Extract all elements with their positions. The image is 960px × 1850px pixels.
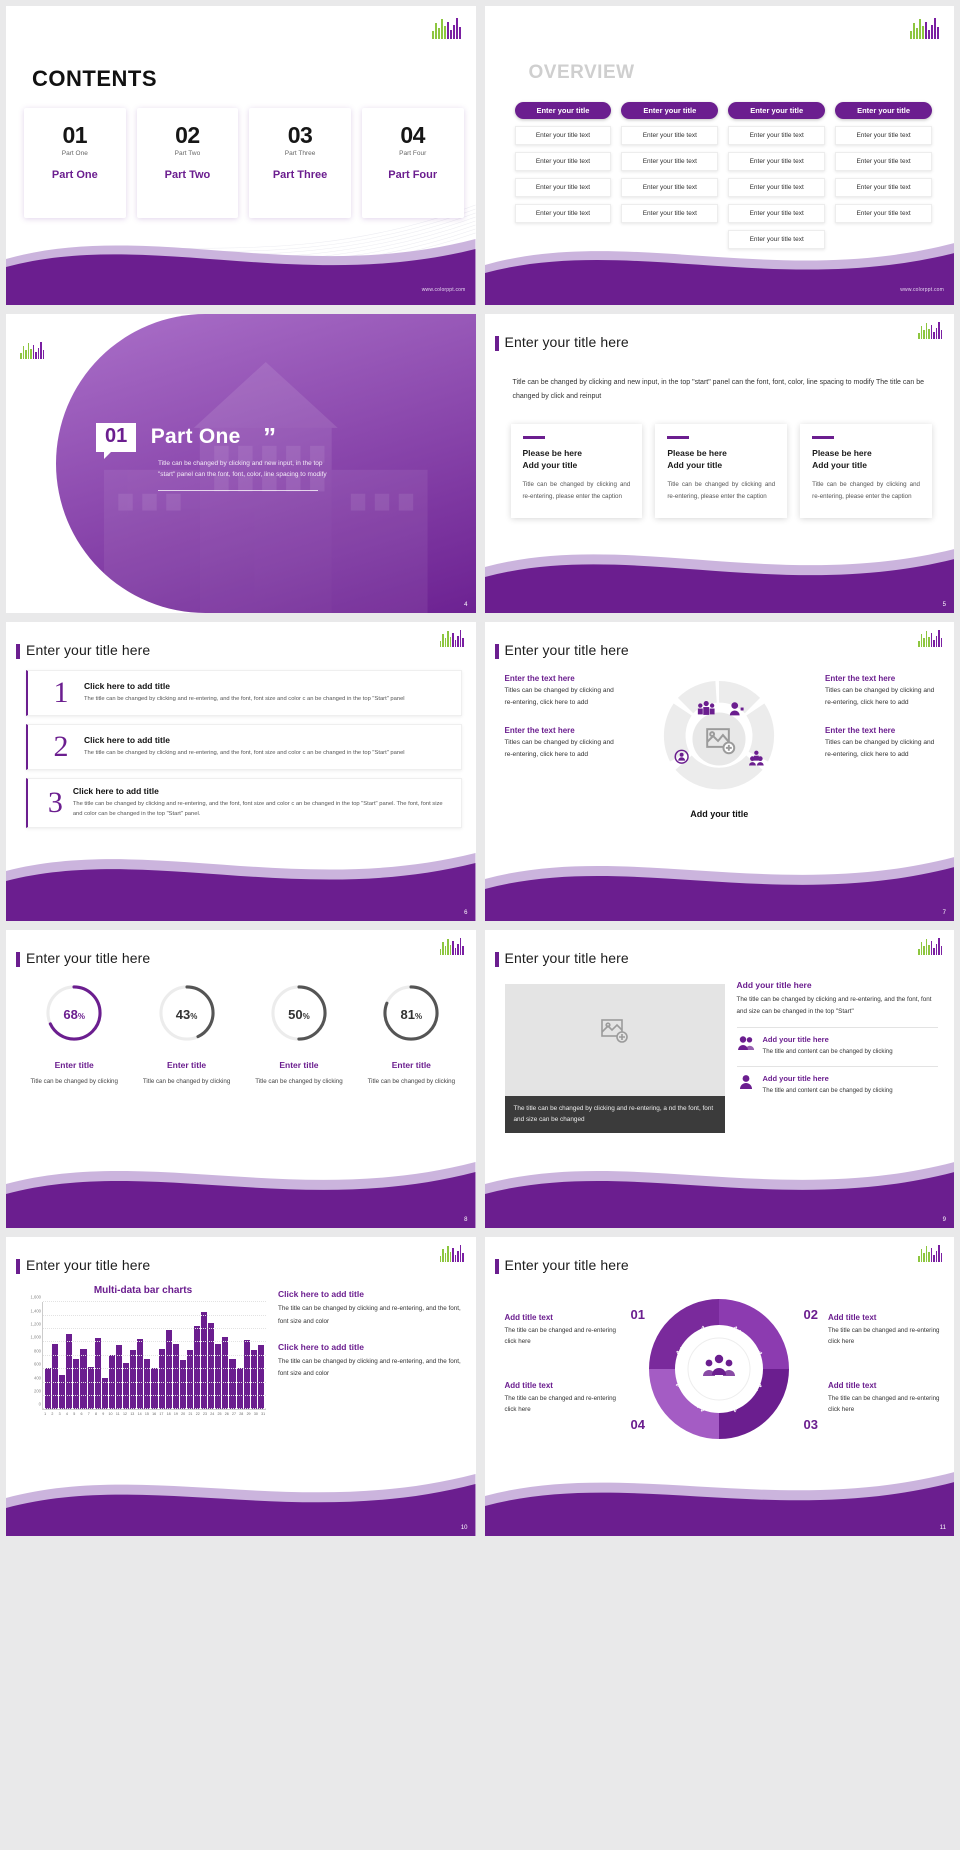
chart-x-tick: 21 bbox=[187, 1412, 193, 1416]
text-block[interactable]: Enter the text here Titles can be change… bbox=[825, 674, 940, 710]
right-text-column: Enter the text here Titles can be change… bbox=[825, 674, 940, 778]
block-heading: Click here to add title bbox=[278, 1289, 464, 1299]
chart-y-tick: 1,200 bbox=[21, 1322, 41, 1327]
slide-percent-donuts[interactable]: Enter your title here 68% Enter title Ti… bbox=[6, 930, 476, 1229]
card-body: Title can be changed by clicking and re-… bbox=[667, 479, 775, 502]
chart-x-tick: 14 bbox=[136, 1412, 142, 1416]
chart-bar bbox=[88, 1367, 94, 1410]
chart-y-tick: 0 bbox=[21, 1402, 41, 1407]
chart-bar bbox=[144, 1359, 150, 1410]
page-number: 6 bbox=[464, 910, 467, 916]
page-title: Enter your title here bbox=[505, 1257, 629, 1273]
chart-bar bbox=[66, 1334, 72, 1409]
chart-gridline bbox=[43, 1408, 266, 1409]
chart-bar bbox=[45, 1368, 51, 1409]
donut-unit: % bbox=[190, 1012, 197, 1021]
chart-x-tick: 15 bbox=[144, 1412, 150, 1416]
item-heading: Add your title here bbox=[763, 1035, 893, 1044]
info-card[interactable]: Please be here Add your title Title can … bbox=[511, 424, 643, 519]
chart-x-tick: 19 bbox=[173, 1412, 179, 1416]
quadrant-number-04: 04 bbox=[631, 1417, 645, 1432]
chart-gridline bbox=[43, 1355, 266, 1356]
info-card[interactable]: Please be here Add your title Title can … bbox=[800, 424, 932, 519]
item-heading: Click here to add title bbox=[84, 735, 405, 745]
page-title: Enter your title here bbox=[505, 950, 629, 966]
accent-bar bbox=[667, 436, 689, 439]
item-body: The title can be changed by clicking and… bbox=[84, 748, 405, 758]
card-subtitle: Part Three bbox=[249, 150, 351, 157]
chart-y-tick: 600 bbox=[21, 1362, 41, 1367]
page-title: Enter your title here bbox=[505, 642, 629, 658]
chart-gridline bbox=[43, 1341, 266, 1342]
chart-x-tick: 10 bbox=[107, 1412, 113, 1416]
overview-column: Enter your title Enter your title text E… bbox=[835, 102, 932, 249]
chart-x-tick: 13 bbox=[129, 1412, 135, 1416]
chart-title: Multi-data bar charts bbox=[20, 1285, 266, 1296]
chart-x-tick: 25 bbox=[216, 1412, 222, 1416]
contents-card-list: 01 Part One Part One 02 Part Two Part Tw… bbox=[24, 108, 464, 218]
numbered-row-list: 1 Click here to add title The title can … bbox=[26, 670, 462, 836]
chart-gridline bbox=[43, 1395, 266, 1396]
item-number: 3 bbox=[38, 788, 73, 818]
chart-x-tick: 20 bbox=[180, 1412, 186, 1416]
donut-value: 81 bbox=[401, 1007, 415, 1022]
text-block[interactable]: Enter the text here Titles can be change… bbox=[505, 726, 620, 762]
page-title: OVERVIEW bbox=[529, 62, 635, 84]
panel-intro: The title can be changed by clicking and… bbox=[737, 994, 939, 1019]
card-label: Part Three bbox=[249, 169, 351, 181]
page-number: 7 bbox=[943, 910, 946, 916]
quadrant-body: The title can be changed and re-entering… bbox=[828, 1325, 940, 1347]
chart-y-tick: 1,600 bbox=[21, 1295, 41, 1300]
chart-x-tick: 3 bbox=[57, 1412, 63, 1416]
block-body: Titles can be changed by clicking and re… bbox=[505, 685, 620, 710]
overview-cell[interactable]: Enter your title text bbox=[835, 204, 932, 223]
chart-plot-area: 02004006008001,0001,2001,4001,600 bbox=[42, 1302, 266, 1410]
page-title: Enter your title here bbox=[26, 950, 150, 966]
footer-wave bbox=[6, 1446, 476, 1536]
slide-overview[interactable]: OVERVIEW Enter your title Enter your tit… bbox=[485, 6, 955, 305]
overview-column: Enter your title Enter your title text E… bbox=[621, 102, 718, 249]
overview-cell[interactable]: Enter your title text bbox=[621, 204, 718, 223]
page-title: Enter your title here bbox=[26, 1257, 150, 1273]
card-subtitle: Part Two bbox=[137, 150, 239, 157]
donut-label: Enter title bbox=[130, 1060, 242, 1070]
quadrant-number-01: 01 bbox=[631, 1307, 645, 1322]
section-number: 01 bbox=[96, 423, 136, 452]
slide-cycle-diagram[interactable]: Enter your title here Add title text The… bbox=[485, 1237, 955, 1536]
chart-x-tick: 24 bbox=[209, 1412, 215, 1416]
item-heading: Click here to add title bbox=[84, 681, 405, 691]
contents-card[interactable]: 04 Part Four Part Four bbox=[362, 108, 464, 218]
chart-gridline bbox=[43, 1315, 266, 1316]
block-body: Titles can be changed by clicking and re… bbox=[825, 685, 940, 710]
chart-bar bbox=[137, 1339, 143, 1409]
overview-cell[interactable]: Enter your title text bbox=[835, 152, 932, 171]
quadrant-text-01[interactable]: Add title text The title can be changed … bbox=[505, 1313, 617, 1347]
card-body: Title can be changed by clicking and re-… bbox=[523, 479, 631, 502]
chart-bar bbox=[244, 1340, 250, 1410]
overview-cell[interactable]: Enter your title text bbox=[728, 230, 825, 249]
center-label: Add your title bbox=[654, 809, 784, 819]
list-item[interactable]: Add your title here The title and conten… bbox=[737, 1027, 939, 1057]
chart-gridline bbox=[43, 1368, 266, 1369]
chart-x-tick: 23 bbox=[202, 1412, 208, 1416]
card-number: 03 bbox=[249, 124, 351, 147]
cover-content: 01 Part One ” Title can be changed by cl… bbox=[96, 422, 338, 491]
chart-bar bbox=[102, 1378, 108, 1409]
equalizer-bars-logo bbox=[918, 322, 942, 339]
info-card[interactable]: Please be here Add your title Title can … bbox=[655, 424, 787, 519]
donut-caption: Title can be changed by clicking bbox=[355, 1076, 467, 1087]
block-heading: Enter the text here bbox=[825, 726, 940, 735]
chart-bar bbox=[173, 1344, 179, 1410]
page-title: Enter your title here bbox=[26, 642, 150, 658]
footer-wave bbox=[485, 1446, 955, 1536]
chart-x-tick: 4 bbox=[64, 1412, 70, 1416]
card-label: Part Two bbox=[137, 169, 239, 181]
chart-bar bbox=[215, 1344, 221, 1410]
chart-y-tick: 400 bbox=[21, 1375, 41, 1380]
donut-label: Enter title bbox=[18, 1060, 130, 1070]
overview-cell[interactable]: Enter your title text bbox=[728, 178, 825, 197]
chart-x-tick: 2 bbox=[49, 1412, 55, 1416]
item-body: The title can be changed by clicking and… bbox=[84, 694, 405, 704]
quadrant-body: The title can be changed and re-entering… bbox=[828, 1393, 940, 1415]
intro-paragraph: Title can be changed by clicking and new… bbox=[513, 376, 925, 404]
chart-x-tick: 11 bbox=[115, 1412, 121, 1416]
cycle-ring: Add title text Add title text Add title … bbox=[649, 1299, 789, 1444]
contents-card[interactable]: 03 Part Three Part Three bbox=[249, 108, 351, 218]
footer-site-url: www.colorppt.com bbox=[422, 287, 466, 293]
segmented-ring-diagram: Add your title bbox=[654, 680, 784, 819]
chart-x-tick: 31 bbox=[260, 1412, 266, 1416]
chart-gridline bbox=[43, 1301, 266, 1302]
chart-bar bbox=[222, 1337, 228, 1409]
quadrant-heading: Add title text bbox=[828, 1313, 940, 1322]
equalizer-bars-logo bbox=[440, 1245, 464, 1262]
item-number: 1 bbox=[38, 678, 84, 708]
section-title: Part One bbox=[151, 425, 241, 449]
chart-bar bbox=[151, 1368, 157, 1409]
footer-wave bbox=[485, 523, 955, 613]
slide-three-cards[interactable]: Enter your title here Title can be chang… bbox=[485, 314, 955, 613]
footer-wave bbox=[6, 1138, 476, 1228]
block-heading: Enter the text here bbox=[825, 674, 940, 683]
donut-caption: Title can be changed by clicking bbox=[130, 1076, 242, 1087]
list-item[interactable]: 2 Click here to add title The title can … bbox=[26, 724, 462, 770]
block-heading: Enter the text here bbox=[505, 726, 620, 735]
overview-cell[interactable]: Enter your title text bbox=[515, 178, 612, 197]
chart-x-tick: 17 bbox=[158, 1412, 164, 1416]
footer-wave bbox=[485, 1138, 955, 1228]
quadrant-number-02: 02 bbox=[804, 1307, 818, 1322]
slide-image-and-list[interactable]: Enter your title here The title can be c… bbox=[485, 930, 955, 1229]
equalizer-bars-logo bbox=[918, 1245, 942, 1262]
item-heading: Click here to add title bbox=[73, 786, 451, 796]
donut-unit: % bbox=[415, 1012, 422, 1021]
card-number: 04 bbox=[362, 124, 464, 147]
ring-segments bbox=[660, 680, 778, 798]
overview-column: Enter your title Enter your title text E… bbox=[728, 102, 825, 249]
left-text-column: Enter the text here Titles can be change… bbox=[505, 674, 620, 778]
contents-card[interactable]: 01 Part One Part One bbox=[24, 108, 126, 218]
list-item[interactable]: 1 Click here to add title The title can … bbox=[26, 670, 462, 716]
overview-cell[interactable]: Enter your title text bbox=[621, 126, 718, 145]
image-placeholder[interactable] bbox=[505, 984, 725, 1096]
slide-circular-diagram[interactable]: Enter your title here Enter the text her… bbox=[485, 622, 955, 921]
donut-label: Enter title bbox=[243, 1060, 355, 1070]
column-pill-button[interactable]: Enter your title bbox=[728, 102, 825, 119]
chart-bar bbox=[159, 1349, 165, 1409]
page-number: 4 bbox=[464, 602, 467, 608]
quadrant-text-04[interactable]: Add title text The title can be changed … bbox=[505, 1381, 617, 1415]
chart-x-tick: 29 bbox=[245, 1412, 251, 1416]
chart-x-tick: 26 bbox=[224, 1412, 230, 1416]
column-pill-button[interactable]: Enter your title bbox=[835, 102, 932, 119]
chart-x-tick: 27 bbox=[231, 1412, 237, 1416]
chart-x-tick: 18 bbox=[166, 1412, 172, 1416]
equalizer-bars-logo bbox=[20, 342, 44, 359]
item-body: The title can be changed by clicking and… bbox=[73, 799, 451, 820]
overview-cell[interactable]: Enter your title text bbox=[728, 152, 825, 171]
block-body: The title can be changed by clicking and… bbox=[278, 1356, 464, 1381]
card-body: Title can be changed by clicking and re-… bbox=[812, 479, 920, 502]
column-pill-button[interactable]: Enter your title bbox=[621, 102, 718, 119]
chart-y-tick: 800 bbox=[21, 1348, 41, 1353]
equalizer-bars-logo bbox=[910, 17, 940, 39]
block-body: Titles can be changed by clicking and re… bbox=[505, 737, 620, 762]
chart-side-text: Click here to add title The title can be… bbox=[278, 1289, 464, 1394]
donut-item[interactable]: 81% Enter title Title can be changed by … bbox=[355, 982, 467, 1087]
donut-value: 50 bbox=[288, 1007, 302, 1022]
item-body: The title and content can be changed by … bbox=[763, 1085, 893, 1096]
divider bbox=[158, 490, 318, 491]
donut-label: Enter title bbox=[355, 1060, 467, 1070]
block-heading: Click here to add title bbox=[278, 1342, 464, 1352]
quadrant-heading: Add title text bbox=[828, 1381, 940, 1390]
chart-bar bbox=[95, 1338, 101, 1409]
overview-cell[interactable]: Enter your title text bbox=[835, 126, 932, 145]
section-body: Title can be changed by clicking and new… bbox=[158, 459, 338, 480]
chart-bar bbox=[73, 1359, 79, 1410]
overview-column: Enter your title Enter your title text E… bbox=[515, 102, 612, 249]
equalizer-bars-logo bbox=[440, 938, 464, 955]
list-item[interactable]: Add your title here The title and conten… bbox=[737, 1066, 939, 1096]
card-heading: Please be here Add your title bbox=[523, 447, 631, 472]
footer-wave bbox=[485, 831, 955, 921]
equalizer-bars-logo bbox=[440, 630, 464, 647]
slide-deck-grid: CONTENTS 01 Part One Part One 02 Part Tw… bbox=[0, 0, 960, 1850]
quadrant-body: The title can be changed and re-entering… bbox=[505, 1325, 617, 1347]
chart-bar bbox=[80, 1349, 86, 1409]
donut-row: 68% Enter title Title can be changed by … bbox=[18, 982, 468, 1087]
quadrant-body: The title can be changed and re-entering… bbox=[505, 1393, 617, 1415]
equalizer-bars-logo bbox=[918, 938, 942, 955]
donut-unit: % bbox=[78, 1012, 85, 1021]
overview-cell[interactable]: Enter your title text bbox=[621, 178, 718, 197]
slide-numbered-list[interactable]: Enter your title here 1 Click here to ad… bbox=[6, 622, 476, 921]
donut-value: 43 bbox=[176, 1007, 190, 1022]
donut-item[interactable]: 43% Enter title Title can be changed by … bbox=[130, 982, 242, 1087]
slide-section-cover[interactable]: 01 Part One ” Title can be changed by cl… bbox=[6, 314, 476, 613]
quadrant-heading: Add title text bbox=[505, 1381, 617, 1390]
quadrant-heading: Add title text bbox=[505, 1313, 617, 1322]
card-heading: Please be here Add your title bbox=[667, 447, 775, 472]
page-number: 8 bbox=[464, 1217, 467, 1223]
chart-y-tick: 1,400 bbox=[21, 1308, 41, 1313]
chart-x-tick: 16 bbox=[151, 1412, 157, 1416]
item-heading: Add your title here bbox=[763, 1074, 893, 1083]
chart-bar bbox=[130, 1350, 136, 1409]
card-label: Part Four bbox=[362, 169, 464, 181]
chart-bars bbox=[45, 1302, 264, 1409]
chart-x-tick: 30 bbox=[253, 1412, 259, 1416]
overview-cell[interactable]: Enter your title text bbox=[515, 152, 612, 171]
overview-cell[interactable]: Enter your title text bbox=[621, 152, 718, 171]
donut-caption: Title can be changed by clicking bbox=[18, 1076, 130, 1087]
chart-bar bbox=[208, 1323, 214, 1409]
footer-site-url: www.colorppt.com bbox=[900, 287, 944, 293]
quadrant-text-03[interactable]: Add title text The title can be changed … bbox=[828, 1381, 940, 1415]
chart-x-tick: 8 bbox=[93, 1412, 99, 1416]
chart-bar bbox=[187, 1350, 193, 1409]
page-number: 11 bbox=[940, 1525, 946, 1531]
chart-y-tick: 1,000 bbox=[21, 1335, 41, 1340]
block-body: Titles can be changed by clicking and re… bbox=[825, 737, 940, 762]
overview-cell[interactable]: Enter your title text bbox=[835, 178, 932, 197]
card-label: Part One bbox=[24, 169, 126, 181]
chart-x-tick: 7 bbox=[86, 1412, 92, 1416]
chart-x-axis-labels: 1234567891011121314151617181920212223242… bbox=[42, 1412, 266, 1416]
block-body: The title can be changed by clicking and… bbox=[278, 1303, 464, 1328]
item-body: The title and content can be changed by … bbox=[763, 1046, 893, 1057]
card-subtitle: Part Four bbox=[362, 150, 464, 157]
chart-x-tick: 1 bbox=[42, 1412, 48, 1416]
chart-x-tick: 5 bbox=[71, 1412, 77, 1416]
contents-card[interactable]: 02 Part Two Part Two bbox=[137, 108, 239, 218]
chart-x-tick: 9 bbox=[100, 1412, 106, 1416]
page-title: Enter your title here bbox=[505, 334, 629, 350]
list-item[interactable]: 3 Click here to add title The title can … bbox=[26, 778, 462, 828]
card-number: 01 bbox=[24, 124, 126, 147]
text-block[interactable]: Enter the text here Titles can be change… bbox=[825, 726, 940, 762]
text-block[interactable]: Enter the text here Titles can be change… bbox=[505, 674, 620, 710]
donut-item[interactable]: 68% Enter title Title can be changed by … bbox=[18, 982, 130, 1087]
chart-x-tick: 28 bbox=[238, 1412, 244, 1416]
quadrant-text-02[interactable]: Add title text The title can be changed … bbox=[828, 1313, 940, 1347]
card-subtitle: Part One bbox=[24, 150, 126, 157]
quote-mark-icon: ” bbox=[263, 422, 276, 453]
right-panel: Add your title here The title can be cha… bbox=[737, 980, 939, 1097]
two-people-icon bbox=[737, 1035, 755, 1051]
chart-bar bbox=[229, 1359, 235, 1410]
page-title: CONTENTS bbox=[32, 66, 157, 92]
chart-x-tick: 6 bbox=[78, 1412, 84, 1416]
overview-cell[interactable]: Enter your title text bbox=[728, 204, 825, 223]
overview-columns: Enter your title Enter your title text E… bbox=[515, 102, 933, 249]
donut-caption: Title can be changed by clicking bbox=[243, 1076, 355, 1087]
column-pill-button[interactable]: Enter your title bbox=[515, 102, 612, 119]
accent-bar bbox=[812, 436, 834, 439]
chart-bar bbox=[123, 1363, 129, 1410]
donut-value: 68 bbox=[63, 1007, 77, 1022]
overview-cell[interactable]: Enter your title text bbox=[515, 204, 612, 223]
chart-gridline bbox=[43, 1382, 266, 1383]
page-number: 9 bbox=[943, 1217, 946, 1223]
page-number: 10 bbox=[461, 1525, 468, 1531]
overview-cell[interactable]: Enter your title text bbox=[728, 126, 825, 145]
overview-cell[interactable]: Enter your title text bbox=[515, 126, 612, 145]
image-caption: The title can be changed by clicking and… bbox=[505, 1096, 725, 1133]
chart-gridline bbox=[43, 1328, 266, 1329]
accent-bar bbox=[523, 436, 545, 439]
chart-bar bbox=[59, 1375, 65, 1410]
donut-item[interactable]: 50% Enter title Title can be changed by … bbox=[243, 982, 355, 1087]
quadrant-number-03: 03 bbox=[804, 1417, 818, 1432]
equalizer-bars-logo bbox=[918, 630, 942, 647]
card-heading: Please be here Add your title bbox=[812, 447, 920, 472]
equalizer-bars-logo bbox=[432, 17, 462, 39]
card-number: 02 bbox=[137, 124, 239, 147]
chart-bar bbox=[237, 1368, 243, 1409]
chart-bar bbox=[52, 1344, 58, 1410]
page-number: 5 bbox=[943, 602, 946, 608]
slide-contents[interactable]: CONTENTS 01 Part One Part One 02 Part Tw… bbox=[6, 6, 476, 305]
panel-heading: Add your title here bbox=[737, 980, 939, 990]
bar-chart: Multi-data bar charts 02004006008001,000… bbox=[20, 1285, 266, 1416]
card-row: Please be here Add your title Title can … bbox=[511, 424, 933, 519]
block-heading: Enter the text here bbox=[505, 674, 620, 683]
chart-x-tick: 12 bbox=[122, 1412, 128, 1416]
donut-unit: % bbox=[303, 1012, 310, 1021]
chart-y-tick: 200 bbox=[21, 1388, 41, 1393]
chart-x-tick: 22 bbox=[195, 1412, 201, 1416]
person-icon bbox=[737, 1074, 755, 1090]
item-number: 2 bbox=[38, 732, 84, 762]
slide-bar-chart[interactable]: Enter your title here Multi-data bar cha… bbox=[6, 1237, 476, 1536]
footer-wave bbox=[6, 831, 476, 921]
chart-bar bbox=[251, 1350, 257, 1409]
image-placeholder-icon bbox=[600, 1018, 630, 1044]
